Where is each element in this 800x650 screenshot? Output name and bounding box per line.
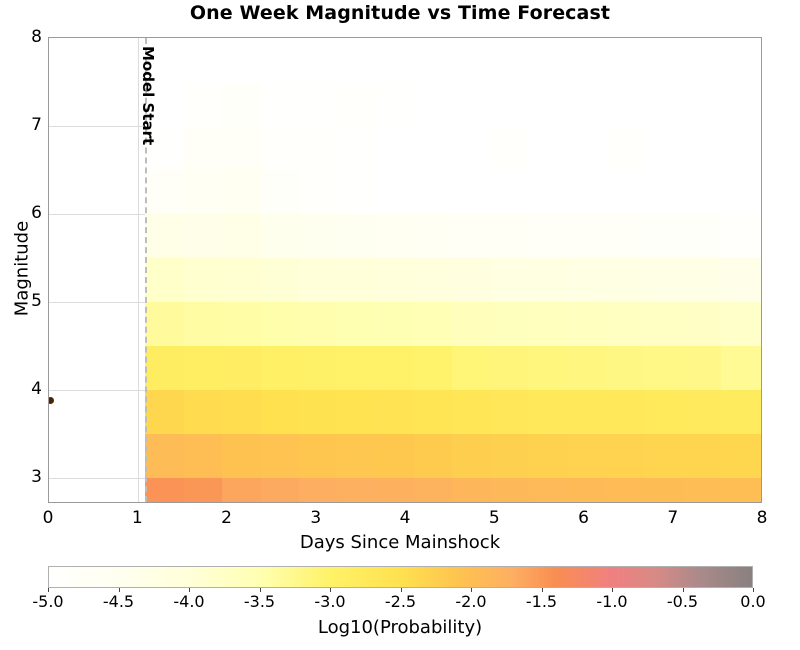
heatmap-cell — [606, 478, 645, 503]
heatmap-cell — [568, 434, 607, 479]
heatmap-cell — [414, 258, 453, 303]
heatmap-cell — [721, 434, 762, 479]
colorbar-tick-label: -1.5 — [526, 592, 557, 611]
heatmap-cell — [606, 258, 645, 303]
heatmap-cell — [644, 170, 683, 215]
heatmap-cell — [376, 214, 415, 259]
heatmap-cell — [568, 478, 607, 503]
heatmap-cell — [568, 346, 607, 391]
heatmap-cell — [145, 478, 184, 503]
heatmap-cell — [376, 170, 415, 215]
heatmap-cell — [529, 346, 568, 391]
heatmap-cell — [376, 346, 415, 391]
heatmap-cell — [222, 302, 261, 347]
heatmap-cell — [491, 38, 530, 83]
heatmap-cell — [606, 214, 645, 259]
heatmap-cell — [184, 434, 223, 479]
heatmap-cell — [261, 170, 300, 215]
x-tick-label: 7 — [667, 508, 678, 528]
heatmap-cell — [299, 390, 338, 435]
heatmap-cell — [568, 258, 607, 303]
heatmap-cell — [606, 126, 645, 171]
heatmap-cell — [299, 478, 338, 503]
chart-title: One Week Magnitude vs Time Forecast — [0, 2, 800, 24]
heatmap-cell — [529, 390, 568, 435]
x-tick-label: 0 — [43, 508, 54, 528]
heatmap-cell — [299, 434, 338, 479]
heatmap-cell — [606, 302, 645, 347]
colorbar-tick-label: -4.5 — [103, 592, 134, 611]
heatmap-cell — [376, 434, 415, 479]
heatmap-cell — [644, 214, 683, 259]
heatmap-cell — [491, 346, 530, 391]
heatmap-cell — [644, 126, 683, 171]
heatmap-cell — [145, 170, 184, 215]
heatmap-cell — [184, 214, 223, 259]
heatmap-cell — [222, 478, 261, 503]
model-start-label: Model Start — [139, 46, 157, 145]
heatmap-cell — [414, 214, 453, 259]
heatmap-cell — [261, 82, 300, 127]
heatmap-cell — [299, 82, 338, 127]
heatmap-cell — [414, 82, 453, 127]
y-tick-label: 3 — [20, 467, 42, 487]
heatmap-cell — [683, 82, 722, 127]
heatmap-cell — [376, 82, 415, 127]
heatmap-cell — [414, 38, 453, 83]
heatmap-cell — [491, 302, 530, 347]
heatmap-cell — [644, 434, 683, 479]
heatmap-cell — [261, 302, 300, 347]
heatmap-cell — [683, 434, 722, 479]
heatmap-cell — [184, 346, 223, 391]
heatmap-cell — [414, 346, 453, 391]
heatmap-cell — [452, 346, 491, 391]
heatmap-cell — [452, 214, 491, 259]
heatmap-cell — [184, 126, 223, 171]
heatmap-cell — [376, 478, 415, 503]
heatmap-cell — [145, 214, 184, 259]
x-tick-label: 2 — [221, 508, 232, 528]
heatmap-cell — [529, 302, 568, 347]
colorbar-tick-label: -2.5 — [385, 592, 416, 611]
heatmap-cell — [376, 38, 415, 83]
heatmap-cell — [568, 170, 607, 215]
heatmap-cell — [644, 258, 683, 303]
heatmap-cell — [414, 478, 453, 503]
heatmap-cell — [568, 390, 607, 435]
x-tick-label: 1 — [132, 508, 143, 528]
heatmap-cell — [299, 126, 338, 171]
heatmap-cell — [222, 170, 261, 215]
heatmap-cell — [721, 302, 762, 347]
heatmap-cell — [145, 302, 184, 347]
y-tick-label: 8 — [20, 27, 42, 47]
heatmap-cell — [452, 170, 491, 215]
heatmap-cell — [261, 258, 300, 303]
heatmap-cell — [721, 346, 762, 391]
heatmap-cell — [184, 390, 223, 435]
heatmap-cell — [184, 258, 223, 303]
heatmap-cell — [683, 38, 722, 83]
heatmap-cell — [568, 126, 607, 171]
heatmap-cell — [261, 434, 300, 479]
heatmap-cell — [644, 302, 683, 347]
heatmap-cell — [529, 126, 568, 171]
heatmap-cell — [452, 302, 491, 347]
heatmap-cell — [644, 346, 683, 391]
x-tick-label: 5 — [489, 508, 500, 528]
heatmap-cell — [568, 214, 607, 259]
heatmap-cell — [414, 302, 453, 347]
heatmap-cell — [721, 478, 762, 503]
heatmap-cell — [261, 214, 300, 259]
heatmap-cell — [721, 126, 762, 171]
heatmap-cell — [414, 126, 453, 171]
heatmap-cell — [491, 258, 530, 303]
heatmap-cell — [145, 258, 184, 303]
heatmap-cell — [261, 478, 300, 503]
heatmap-cell — [299, 302, 338, 347]
heatmap-cell — [184, 170, 223, 215]
heatmap-cell — [721, 170, 762, 215]
heatmap-cell — [222, 434, 261, 479]
heatmap-cell — [184, 478, 223, 503]
heatmap-cell — [376, 258, 415, 303]
chart-root: One Week Magnitude vs Time Forecast Mode… — [0, 0, 800, 650]
heatmap-cell — [529, 170, 568, 215]
heatmap-cell — [299, 214, 338, 259]
heatmap-cell — [491, 390, 530, 435]
heatmap-cell — [222, 82, 261, 127]
heatmap-cell — [568, 38, 607, 83]
plot-area: Model Start — [48, 37, 762, 503]
colorbar-tick-label: -2.0 — [455, 592, 486, 611]
heatmap-cell — [337, 126, 376, 171]
y-tick-label: 7 — [20, 115, 42, 135]
heatmap-cell — [145, 346, 184, 391]
heatmap-cell — [184, 38, 223, 83]
heatmap-cell — [261, 346, 300, 391]
x-tick-label: 3 — [310, 508, 321, 528]
x-axis-label: Days Since Mainshock — [0, 532, 800, 553]
heatmap-cell — [491, 82, 530, 127]
heatmap-cell — [184, 302, 223, 347]
heatmap-cell — [721, 214, 762, 259]
colorbar-tick-label: -3.5 — [244, 592, 275, 611]
heatmap-cell — [721, 390, 762, 435]
x-tick-label: 6 — [578, 508, 589, 528]
colorbar-tick-label: -1.0 — [596, 592, 627, 611]
heatmap-cell — [299, 38, 338, 83]
heatmap-cell — [222, 126, 261, 171]
heatmap-cell — [683, 346, 722, 391]
heatmap-cell — [683, 478, 722, 503]
heatmap-cell — [337, 38, 376, 83]
heatmap-cell — [337, 302, 376, 347]
y-tick-label: 4 — [20, 379, 42, 399]
heatmap-cell — [261, 126, 300, 171]
heatmap-cell — [606, 38, 645, 83]
heatmap-cell — [337, 170, 376, 215]
heatmap-cell — [337, 258, 376, 303]
colorbar-tick-label: -4.0 — [173, 592, 204, 611]
heatmap-cell — [337, 478, 376, 503]
colorbar-tick-label: 0.0 — [740, 592, 765, 611]
heatmap-cell — [491, 478, 530, 503]
heatmap-cell — [452, 434, 491, 479]
colorbar-tick-label: -5.0 — [32, 592, 63, 611]
heatmap-cell — [491, 214, 530, 259]
heatmap-cell — [644, 390, 683, 435]
heatmap-cell — [261, 38, 300, 83]
heatmap-cell — [337, 390, 376, 435]
heatmap-cell — [683, 258, 722, 303]
heatmap-cell — [529, 38, 568, 83]
heatmap-cell — [376, 390, 415, 435]
heatmap-cell — [452, 258, 491, 303]
heatmap-cell — [683, 126, 722, 171]
heatmap-cell — [683, 170, 722, 215]
heatmap-cell — [145, 434, 184, 479]
heatmap-cell — [683, 302, 722, 347]
heatmap-cell — [376, 302, 415, 347]
heatmap-cell — [529, 214, 568, 259]
heatmap-cell — [337, 434, 376, 479]
heatmap-cell — [222, 390, 261, 435]
heatmap-cell — [721, 258, 762, 303]
colorbar-tick-label: -3.0 — [314, 592, 345, 611]
heatmap-cell — [299, 170, 338, 215]
heatmap-cell — [184, 82, 223, 127]
x-tick-label: 8 — [757, 508, 768, 528]
heatmap-cell — [222, 38, 261, 83]
colorbar-tick-label: -0.5 — [667, 592, 698, 611]
heatmap-cell — [606, 390, 645, 435]
heatmap-cell — [376, 126, 415, 171]
heatmap-cell — [452, 126, 491, 171]
heatmap-cell — [261, 390, 300, 435]
heatmap-cell — [222, 214, 261, 259]
heatmap-cell — [337, 82, 376, 127]
heatmap-cell — [452, 38, 491, 83]
x-tick-label: 4 — [400, 508, 411, 528]
heatmap-cell — [452, 478, 491, 503]
heatmap-cell — [529, 434, 568, 479]
heatmap-cell — [606, 434, 645, 479]
heatmap-cell — [568, 302, 607, 347]
heatmap-cell — [568, 82, 607, 127]
heatmap-cell — [414, 390, 453, 435]
heatmap-cell — [222, 258, 261, 303]
heatmap-cell — [222, 346, 261, 391]
heatmap-cell — [529, 258, 568, 303]
heatmap-cell — [606, 82, 645, 127]
heatmap-cell — [644, 38, 683, 83]
colorbar — [48, 566, 753, 588]
heatmap-cell — [606, 346, 645, 391]
heatmap-cell — [683, 390, 722, 435]
heatmap-cell — [145, 390, 184, 435]
heatmap-cell — [491, 126, 530, 171]
y-axis-label: Magnitude — [12, 209, 33, 329]
heatmap-cell — [299, 346, 338, 391]
heatmap-cell — [337, 346, 376, 391]
heatmap-cell — [683, 214, 722, 259]
heatmap-cell — [606, 170, 645, 215]
heatmap-cell — [721, 38, 762, 83]
heatmap-cell — [721, 82, 762, 127]
heatmap-cell — [299, 258, 338, 303]
heatmap-cell — [644, 82, 683, 127]
heatmap-cell — [452, 390, 491, 435]
heatmap-cell — [414, 434, 453, 479]
heatmap-cell — [491, 170, 530, 215]
heatmap-cell — [337, 214, 376, 259]
heatmap-cell — [414, 170, 453, 215]
heatmap-cell — [529, 82, 568, 127]
heatmap-cell — [491, 434, 530, 479]
heatmap-cell — [644, 478, 683, 503]
heatmap-cell — [452, 82, 491, 127]
colorbar-label: Log10(Probability) — [0, 617, 800, 638]
heatmap-cell — [529, 478, 568, 503]
mainshock-point — [48, 397, 54, 404]
